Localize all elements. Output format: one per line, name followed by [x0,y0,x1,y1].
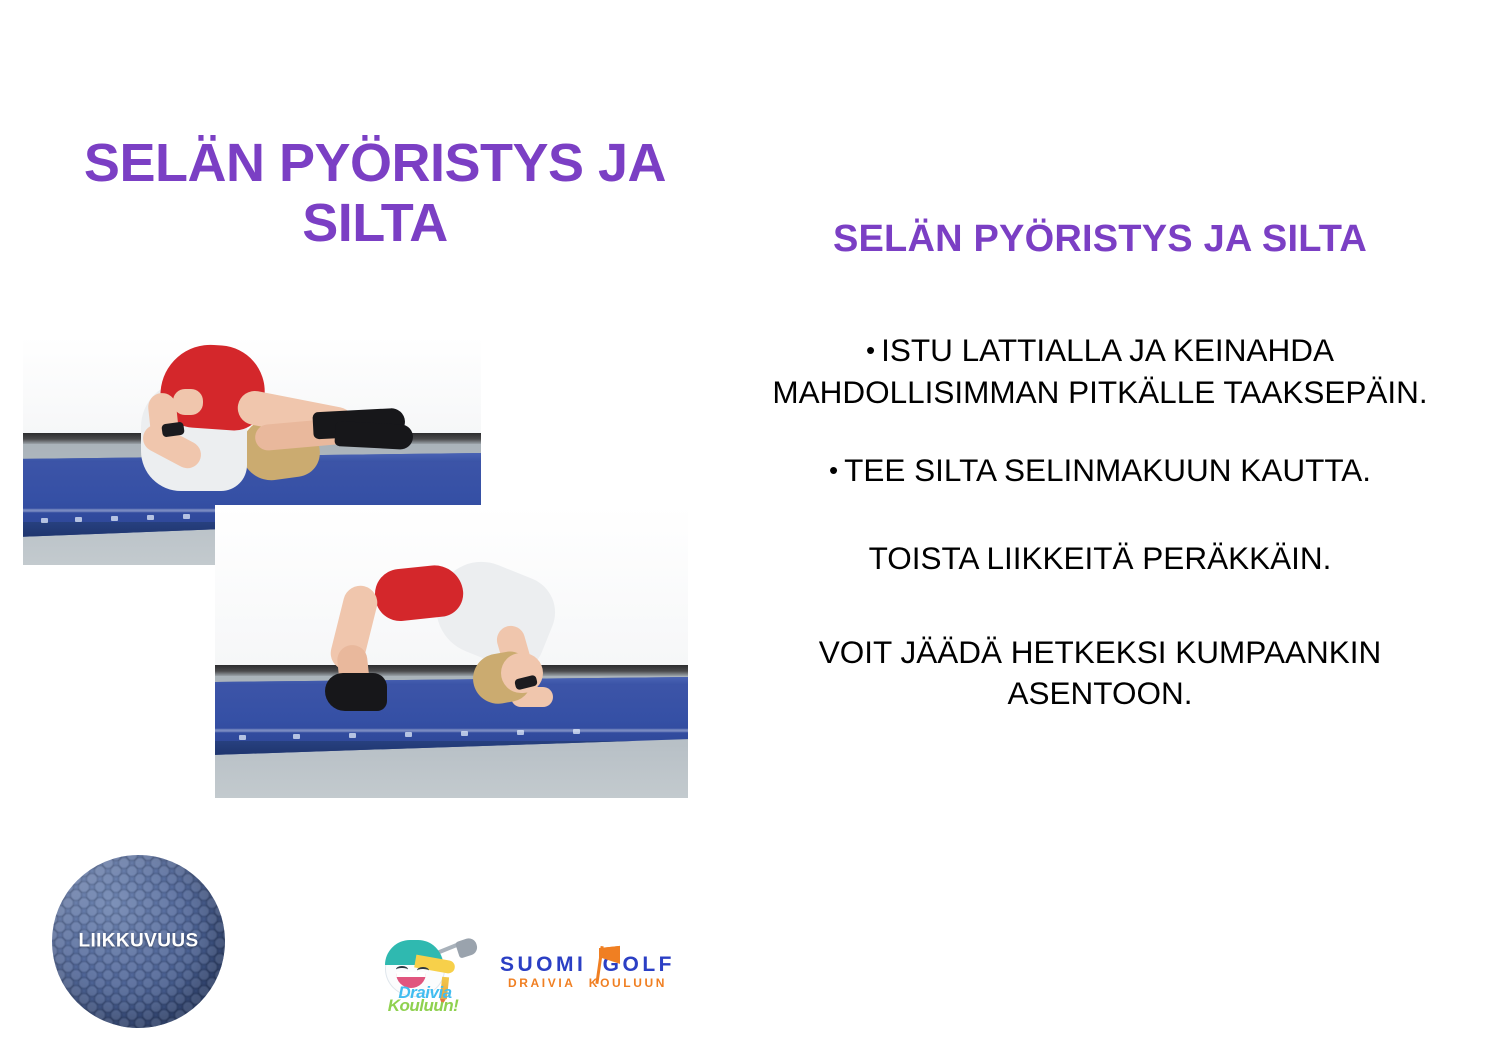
mat-tick [41,518,48,523]
child-hand [173,389,203,415]
list-item: VOIT JÄÄDÄ HETKEKSI KUMPAANKIN ASENTOON. [760,632,1440,716]
mat-tick [349,733,356,738]
suomi-word: SUOMI [500,953,586,977]
gym-baseboard [215,665,688,676]
mat-tick [461,731,468,736]
child-sock [325,673,387,711]
list-item: •TEE SILTA SELINMAKUUN KAUTTA. [760,450,1440,492]
photo-bridge [215,505,688,798]
mat-tick [239,735,246,740]
draivia-wordmark-line2: Kouluun! [367,996,479,1016]
badge-label: LIIKKUVUUS [52,930,225,952]
mat-tick [183,514,190,519]
bullet-icon: • [866,335,881,365]
suomi-golf-subtitle: DRAIVIA KOULUUN [500,976,675,990]
kouluun-subword: KOULUUN [589,976,667,990]
mat-tick [293,734,300,739]
mat-tick [517,730,524,735]
list-item: •ISTU LATTIALLA JA KEINAHDA MAHDOLLISIMM… [760,330,1440,414]
slide-canvas: SELÄN PYÖRISTYS JA SILTA SELÄN PYÖRISTYS… [0,0,1485,1050]
draivia-subword: DRAIVIA [508,976,576,990]
mat-tick [111,516,118,521]
bullet-icon: • [829,455,844,485]
list-item-text: TEE SILTA SELINMAKUUN KAUTTA. [844,452,1371,488]
flag-banner-icon [599,946,620,966]
mat-tick [75,517,82,522]
section-title: SELÄN PYÖRISTYS JA SILTA [745,218,1455,261]
mat-tick [405,732,412,737]
mat-tick [147,515,154,520]
golf-club-head-icon [455,936,479,958]
suomi-golf-logo: SUOMI GOLF DRAIVIA KOULUUN [500,938,675,1000]
mascot-teeth-icon [396,972,426,977]
status-badge: LIIKKUVUUS [52,855,225,1028]
mat-tick [573,729,580,734]
page-title: SELÄN PYÖRISTYS JA SILTA [30,133,720,254]
list-item-text: TOISTA LIIKKEITÄ PERÄKKÄIN. [869,540,1332,576]
draivia-kouluun-logo: Draivia Kouluun! [365,925,485,1013]
list-item-text: VOIT JÄÄDÄ HETKEKSI KUMPAANKIN ASENTOON. [819,634,1381,712]
mat-seam [215,729,688,732]
instruction-list: •ISTU LATTIALLA JA KEINAHDA MAHDOLLISIMM… [760,330,1440,725]
list-item: TOISTA LIIKKEITÄ PERÄKKÄIN. [760,538,1440,580]
child-sock [334,421,413,450]
